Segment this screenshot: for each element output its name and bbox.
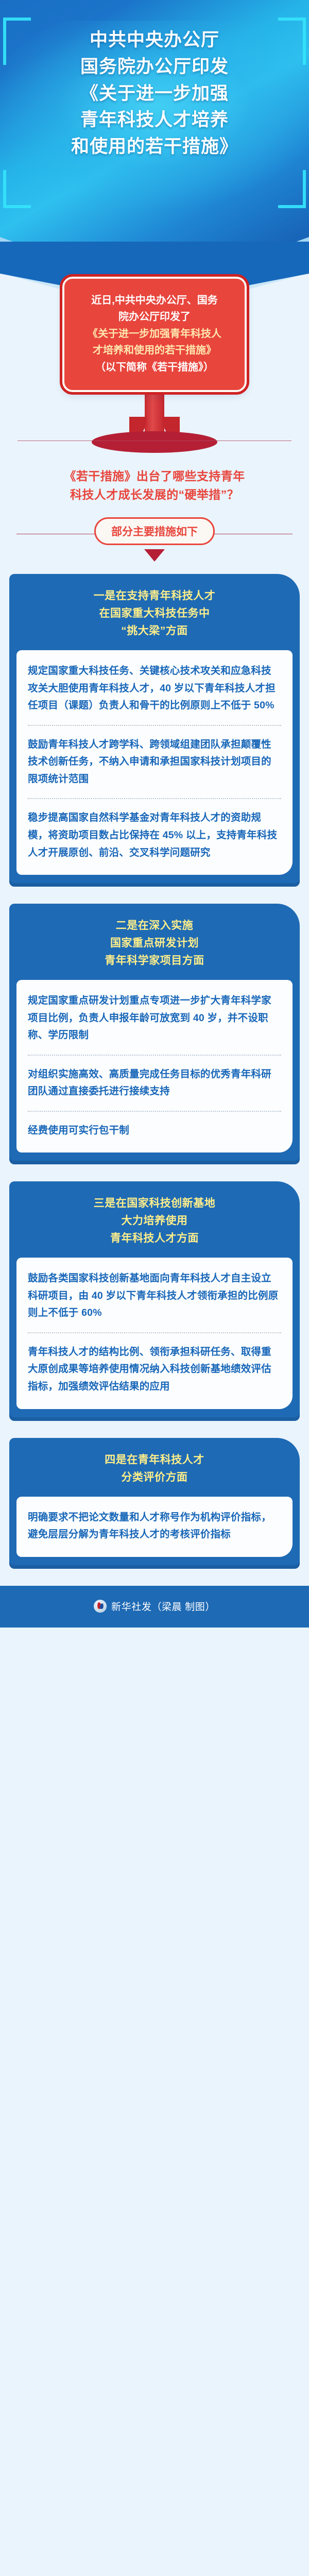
- pedestal-base: [92, 431, 217, 453]
- lead-card-wrapper: 近日,中共中央办公厅、国务 院办公厅印发了 《关于进一步加强青年科技人 才培养和…: [62, 277, 247, 392]
- measure-item: 对组织实施高效、高质量完成任务目标的优秀青年科研团队通过直接委托进行接续支持: [28, 1066, 281, 1100]
- section-3: 三是在国家科技创新基地 大力培养使用 青年科技人才方面 鼓励各类国家科技创新基地…: [9, 1181, 300, 1417]
- section-2-heading: 二是在深入实施 国家重点研发计划 青年科学家项目方面: [16, 915, 293, 980]
- section-3-body: 鼓励各类国家科技创新基地面向青年科技人才自主设立科研项目，由 40 岁以下青年科…: [16, 1258, 293, 1409]
- section-4-heading: 四是在青年科技人才 分类评价方面: [16, 1449, 293, 1497]
- section-2-heading-line-3: 青年科学家项目方面: [20, 952, 289, 970]
- section-3-heading-line-1: 三是在国家科技创新基地: [20, 1195, 289, 1212]
- measure-divider: [28, 1332, 281, 1333]
- footer-credit-text: 新华社发（梁晨 制图）: [111, 1599, 215, 1613]
- measure-item: 规定国家重点研发计划重点专项进一步扩大青年科学家项目比例，负责人申报年龄可放宽到…: [28, 992, 281, 1044]
- pedestal-rule: [18, 440, 291, 441]
- section-3-heading-line-2: 大力培养使用: [20, 1212, 289, 1230]
- section-1-shell: 一是在支持青年科技人才 在国家重大科技任务中 “挑大梁”方面 规定国家重大科技任…: [9, 574, 300, 883]
- page-title: 中共中央办公厅 国务院办公厅印发 《关于进一步加强 青年科技人才培养 和使用的若…: [0, 0, 309, 160]
- section-4-heading-line-1: 四是在青年科技人才: [20, 1451, 289, 1469]
- section-1-heading-line-2: 在国家重大科技任务中: [20, 605, 289, 622]
- lead-line-3: 《关于进一步加强青年科技人: [76, 326, 233, 342]
- measure-divider: [28, 798, 281, 799]
- measure-divider: [28, 1111, 281, 1112]
- section-1-heading: 一是在支持青年科技人才 在国家重大科技任务中 “挑大梁”方面: [16, 585, 293, 650]
- pedestal-graphic: [0, 391, 309, 452]
- measure-item: 鼓励青年科技人才跨学科、跨领域组建团队承担颠覆性技术创新任务，不纳入申请和承担国…: [28, 736, 281, 788]
- corner-bracket-bottom-right-icon: [278, 170, 306, 208]
- page-title-line-2: 国务院办公厅印发: [18, 54, 291, 80]
- lead-line-1: 近日,中共中央办公厅、国务: [76, 292, 233, 309]
- measure-item: 明确要求不把论文数量和人才称号作为机构评价指标，避免层层分解为青年科技人才的考核…: [28, 1509, 281, 1544]
- section-1-heading-line-3: “挑大梁”方面: [20, 622, 289, 640]
- section-2-shell: 二是在深入实施 国家重点研发计划 青年科学家项目方面 规定国家重点研发计划重点专…: [9, 904, 300, 1161]
- lead-line-2: 院办公厅印发了: [76, 309, 233, 325]
- section-2-heading-line-2: 国家重点研发计划: [20, 935, 289, 952]
- measures-intro-pill: 部分主要措施如下: [94, 517, 215, 545]
- measure-item: 青年科技人才的结构比例、领衔承担科研任务、取得重大原创成果等培养使用情况纳入科技…: [28, 1344, 281, 1396]
- page-title-line-3: 《关于进一步加强: [18, 80, 291, 107]
- section-2-body: 规定国家重点研发计划重点专项进一步扩大青年科学家项目比例，负责人申报年龄可放宽到…: [16, 980, 293, 1153]
- lead-line-4: 才培养和使用的若干措施》: [76, 342, 233, 359]
- measure-item: 鼓励各类国家科技创新基地面向青年科技人才自主设立科研项目，由 40 岁以下青年科…: [28, 1270, 281, 1322]
- section-2-heading-line-1: 二是在深入实施: [20, 917, 289, 935]
- section-3-shell: 三是在国家科技创新基地 大力培养使用 青年科技人才方面 鼓励各类国家科技创新基地…: [9, 1181, 300, 1417]
- lead-card: 近日,中共中央办公厅、国务 院办公厅印发了 《关于进一步加强青年科技人 才培养和…: [62, 277, 247, 392]
- section-3-heading: 三是在国家科技创新基地 大力培养使用 青年科技人才方面: [16, 1193, 293, 1258]
- page-title-line-5: 和使用的若干措施》: [18, 133, 291, 160]
- question-block: 《若干措施》出台了哪些支持青年 科技人才成长发展的“硬举措”？: [0, 452, 309, 504]
- section-1: 一是在支持青年科技人才 在国家重大科技任务中 “挑大梁”方面 规定国家重大科技任…: [9, 574, 300, 883]
- infographic-page: 中共中央办公厅 国务院办公厅印发 《关于进一步加强 青年科技人才培养 和使用的若…: [0, 0, 309, 2576]
- section-1-body: 规定国家重大科技任务、关键核心技术攻关和应急科技攻关大胆使用青年科技人才，40 …: [16, 650, 293, 875]
- section-3-heading-line-3: 青年科技人才方面: [20, 1230, 289, 1247]
- page-title-line-1: 中共中央办公厅: [18, 27, 291, 54]
- measure-item: 经费使用可实行包干制: [28, 1122, 281, 1140]
- chevron-down-icon: [144, 549, 165, 562]
- question-line-2: 科技人才成长发展的“硬举措”？: [14, 486, 295, 504]
- footer-credit-bar: 新华社发（梁晨 制图）: [0, 1586, 309, 1628]
- section-4-body: 明确要求不把论文数量和人才称号作为机构评价指标，避免层层分解为青年科技人才的考核…: [16, 1497, 293, 1557]
- corner-bracket-bottom-left-icon: [3, 170, 31, 208]
- measure-item: 稳步提高国家自然科学基金对青年科技人才的资助规模，将资助项目数占比保持在 45%…: [28, 809, 281, 861]
- page-title-line-4: 青年科技人才培养: [18, 107, 291, 133]
- measure-divider: [28, 1055, 281, 1056]
- section-1-heading-line-1: 一是在支持青年科技人才: [20, 587, 289, 605]
- section-4-shell: 四是在青年科技人才 分类评价方面 明确要求不把论文数量和人才称号作为机构评价指标…: [9, 1438, 300, 1565]
- section-4-heading-line-2: 分类评价方面: [20, 1469, 289, 1486]
- section-2: 二是在深入实施 国家重点研发计划 青年科学家项目方面 规定国家重点研发计划重点专…: [9, 904, 300, 1161]
- measures-intro-row: 部分主要措施如下: [0, 517, 309, 556]
- header-banner: 中共中央办公厅 国务院办公厅印发 《关于进一步加强 青年科技人才培养 和使用的若…: [0, 0, 309, 242]
- measure-item: 规定国家重大科技任务、关键核心技术攻关和应急科技攻关大胆使用青年科技人才，40 …: [28, 663, 281, 715]
- xinhua-logo-icon: [94, 1600, 107, 1613]
- sections-list: 一是在支持青年科技人才 在国家重大科技任务中 “挑大梁”方面 规定国家重大科技任…: [0, 556, 309, 1565]
- section-4: 四是在青年科技人才 分类评价方面 明确要求不把论文数量和人才称号作为机构评价指标…: [9, 1438, 300, 1565]
- lead-line-5: （以下简称《若干措施》）: [76, 359, 233, 376]
- question-line-1: 《若干措施》出台了哪些支持青年: [14, 467, 295, 486]
- measure-divider: [28, 725, 281, 726]
